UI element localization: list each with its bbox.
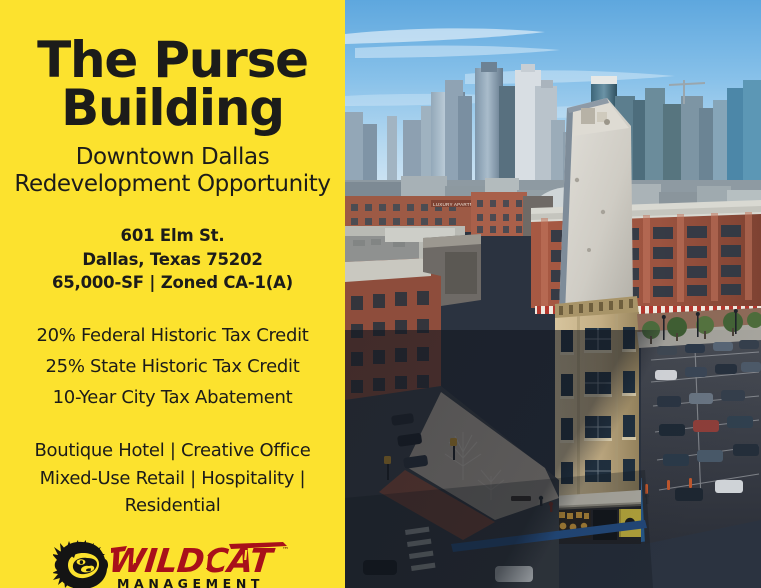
- incentive-item: 10-Year City Tax Abatement: [36, 383, 308, 414]
- svg-text:MANAGEMENT: MANAGEMENT: [117, 576, 264, 588]
- lion-head-icon: [53, 540, 108, 588]
- uses-item: Mixed-Use Retail | Hospitality |: [34, 465, 310, 492]
- flyer-root: The Purse Building Downtown Dallas Redev…: [0, 0, 761, 588]
- uses-item: Boutique Hotel | Creative Office: [34, 437, 310, 464]
- title-line-1: The Purse: [37, 36, 308, 84]
- property-address: 601 Elm St. Dallas, Texas 75202 65,000-S…: [52, 224, 293, 294]
- title-line-2: Building: [37, 84, 308, 132]
- permitted-uses-list: Boutique Hotel | Creative Office Mixed-U…: [34, 437, 310, 519]
- page-subtitle: Downtown Dallas Redevelopment Opportunit…: [14, 144, 330, 197]
- subtitle-line-2: Redevelopment Opportunity: [14, 171, 330, 198]
- subtitle-line-1: Downtown Dallas: [14, 144, 330, 171]
- info-panel: The Purse Building Downtown Dallas Redev…: [0, 0, 345, 588]
- incentives-list: 20% Federal Historic Tax Credit 25% Stat…: [36, 321, 308, 414]
- trademark-symbol: ™: [282, 546, 289, 554]
- address-street: 601 Elm St.: [52, 224, 293, 247]
- incentive-item: 25% State Historic Tax Credit: [36, 352, 308, 383]
- address-city-state-zip: Dallas, Texas 75202: [52, 248, 293, 271]
- incentive-item: 20% Federal Historic Tax Credit: [36, 321, 308, 352]
- aerial-photo: LUXURY APARTMENTS: [345, 0, 761, 588]
- wildcat-management-logo: WILDCAT ™ MANAGEMENT: [53, 540, 293, 588]
- page-title: The Purse Building: [37, 36, 308, 132]
- uses-item: Residential: [34, 492, 310, 519]
- logo-wordmark: WILDCAT ™: [107, 541, 289, 580]
- logo-tagline: MANAGEMENT: [117, 576, 264, 588]
- address-size-zoning: 65,000-SF | Zoned CA-1(A): [52, 271, 293, 294]
